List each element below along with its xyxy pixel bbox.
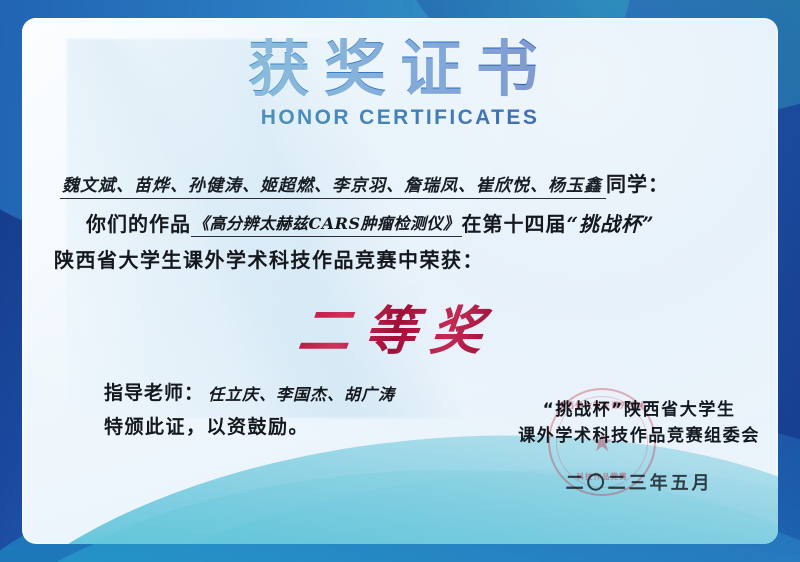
seal-star-icon: ★ [590, 429, 613, 455]
recipient-suffix: 同学： [606, 168, 669, 199]
seal-text-bottom: 科技作品竞赛 [550, 471, 654, 482]
work-tail-text: 在第十四届 [462, 208, 567, 237]
seal-text-top: 陕西省大学生课外学术 [550, 400, 654, 411]
certificate-content: 获奖证书 HONOR CERTIFICATES 魏文斌、苗烨、孙健涛、姬超燃、李… [0, 0, 800, 562]
recipient-names: 魏文斌、苗烨、孙健涛、姬超燃、李京羽、詹瑞凤、崔欣悦、杨玉鑫 [60, 171, 606, 199]
competition-name-quoted: “挑战杯” [567, 208, 655, 237]
official-seal-icon: 陕西省大学生课外学术 ★ 科技作品竞赛 [548, 388, 656, 496]
certificate-document: 获奖证书 HONOR CERTIFICATES 魏文斌、苗烨、孙健涛、姬超燃、李… [0, 0, 800, 562]
advisor-label: 指导老师： [104, 378, 204, 405]
work-project-name: 《高分辨太赫兹CARS肿瘤检测仪》 [191, 210, 462, 237]
certificate-title-chinese: 获奖证书 [0, 38, 800, 100]
work-lead-text: 你们的作品 [86, 208, 191, 237]
competition-line: 陕西省大学生课外学术科技作品竞赛中荣获： [52, 244, 752, 273]
certificate-title-english: HONOR CERTIFICATES [0, 106, 800, 130]
work-title-line: 你们的作品 《高分辨太赫兹CARS肿瘤检测仪》 在第十四届 “挑战杯” [52, 208, 752, 237]
title-block: 获奖证书 HONOR CERTIFICATES [0, 38, 800, 130]
award-row: 二等奖 [52, 289, 752, 364]
advisor-names: 任立庆、李国杰、胡广涛 [204, 381, 395, 405]
recipients-line: 魏文斌、苗烨、孙健涛、姬超燃、李京羽、詹瑞凤、崔欣悦、杨玉鑫 同学： [52, 168, 752, 199]
award-level: 二等奖 [295, 289, 509, 364]
